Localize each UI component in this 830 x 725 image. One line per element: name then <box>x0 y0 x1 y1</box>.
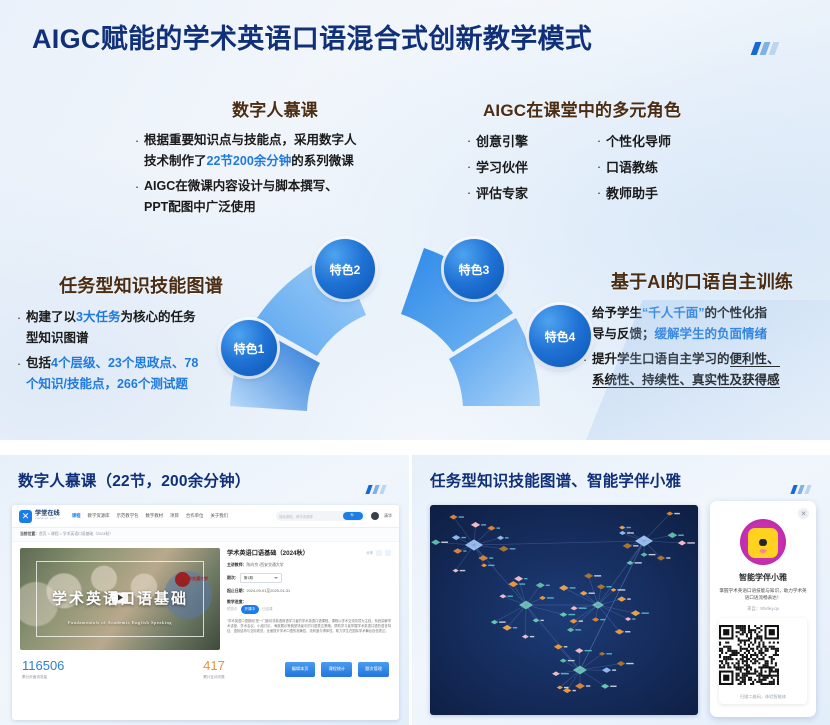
role-label: 个性化导师 <box>606 130 671 153</box>
text-run-highlight: 个知识/技能点 <box>26 377 104 391</box>
course-site-screenshot: ✕ 学堂在线 xuetangx.com 课程 教学资源库 示范教学包 数字教材 … <box>12 505 399 720</box>
role-item: · 口语教练 <box>592 156 712 179</box>
bullet-text: 根据重要知识点与技能点，采用数字人 技术制作了22节200余分钟的系列微课 <box>144 130 357 172</box>
share-group: 分享 <box>366 550 391 556</box>
roles-column-2: · 个性化导师 · 口语教练 · 教师助手 <box>592 130 712 208</box>
text-run-highlight: 负面情绪 <box>717 327 767 341</box>
arch-node-label: 特色3 <box>459 261 490 278</box>
knowledge-graph-svg <box>430 505 698 715</box>
qr-code-icon[interactable] <box>719 625 779 685</box>
section-heading: AIGC在课堂中的多元角色 <box>452 96 712 121</box>
course-hero-row: 西安交通大学 学术英语口语基础 Fundamentals of Academic… <box>12 542 399 650</box>
role-label: 教师助手 <box>606 182 658 205</box>
close-icon[interactable]: ✕ <box>798 508 809 519</box>
term-management-button[interactable]: 题次管理 <box>358 662 389 677</box>
progress-pills: 预告中 开课中 已结课 <box>227 605 391 614</box>
bullet-dot: · <box>462 156 476 177</box>
bullet-text: 构建了以3大任务为核心的任务 型知识图谱 <box>26 307 195 349</box>
text-run: 根据重要知识点与技能点，采用数字人 <box>144 133 357 147</box>
bullet-text: 包括4个层级、23个思政点、78 个知识/技能点，266个测试题 <box>26 353 198 395</box>
course-term-line: 期次： 第1期 <box>227 573 391 583</box>
role-label: 创意引擎 <box>476 130 528 153</box>
date-value: 2024-09-01至2025-01-31 <box>246 588 290 593</box>
role-label: 学习伙伴 <box>476 156 528 179</box>
bullet-dot: · <box>12 353 26 374</box>
site-logo-text: 学堂在线 xuetangx.com <box>35 511 60 522</box>
nav-item-demo-packages[interactable]: 示范教学包 <box>117 513 139 519</box>
decorative-stripes-icon <box>753 42 777 55</box>
term-select[interactable]: 第1期 <box>240 573 282 583</box>
stat-value: 417 <box>150 658 278 673</box>
share-icon-2[interactable] <box>385 550 391 556</box>
panel-title: 任务型知识技能图谱、智能学伴小雅 <box>430 469 681 491</box>
stat-interactions: 417 累计互动次数 <box>150 658 278 680</box>
text-run: 的系列微课 <box>291 154 354 168</box>
share-icon-1[interactable] <box>376 550 382 556</box>
share-label: 分享 <box>366 550 373 555</box>
role-item: · 评估专家 <box>462 182 582 205</box>
panel-mooc: 数字人慕课（22节，200余分钟） ✕ 学堂在线 xuetangx.com 课程… <box>0 455 409 725</box>
top-slide: AIGC赋能的学术英语口语混合式创新教学模式 数字人慕课 · 根据重要知识点与技… <box>0 0 830 440</box>
course-meta: 学术英语口语基础（2024秋） 分享 主讲教师：陈向京 /西安交通大学 期次： … <box>227 548 391 650</box>
text-run: 构建了以 <box>26 310 76 324</box>
stat-value: 116506 <box>22 658 150 673</box>
nav-item-partners[interactable]: 合作单位 <box>186 513 204 519</box>
stat-pageviews: 116506 累计页面浏览量 <box>22 658 150 680</box>
role-item: · 个性化导师 <box>592 130 712 153</box>
decorative-stripes-icon <box>792 485 810 494</box>
roles-column-1: · 创意引擎 · 学习伙伴 · 评估专家 <box>462 130 582 208</box>
arch-node-label: 特色4 <box>545 328 576 345</box>
site-domain: xuetangx.com <box>35 516 60 522</box>
course-action-buttons: 编辑本页 课程统计 题次管理 <box>285 662 389 677</box>
bullet-dot: · <box>462 130 476 151</box>
bullet-dot: · <box>592 182 606 203</box>
arch-node-3[interactable]: 特色3 <box>444 239 504 299</box>
nav-item-digital-textbook[interactable]: 数字教材 <box>145 513 163 519</box>
course-title: 学术英语口语基础（2024秋） 分享 <box>227 548 391 557</box>
course-description: “学术英语口语基础”是一门面向非英语母语学习者的学术英语口语课程。课程以学术交流… <box>227 619 391 635</box>
site-navbar: ✕ 学堂在线 xuetangx.com 课程 教学资源库 示范教学包 数字教材 … <box>12 505 399 528</box>
arch-diagram: 特色1 特色2 特色3 特色4 <box>196 213 640 435</box>
breadcrumb-path: 首页 > 课程 > 学术英语口语基础（2024秋） <box>39 532 113 536</box>
nav-item-about[interactable]: 关于我们 <box>210 513 228 519</box>
bullet-text: 提升学生口语自主学习的便利性、 系统性、持续性、真实性及获得感 <box>592 349 780 391</box>
role-label: 口语教练 <box>606 156 658 179</box>
text-run: 为核心的任务 <box>120 310 195 324</box>
search-input[interactable]: 搜索课程、教学资源等 🔍 <box>276 511 366 521</box>
bullet-dot: · <box>592 130 606 151</box>
qr-tip: 扫描二维码，体验智能体 <box>719 694 807 700</box>
date-label: 起止日期： <box>227 588 246 593</box>
bullet-item: · 根据重要知识点与技能点，采用数字人 技术制作了22节200余分钟的系列微课 <box>130 130 420 172</box>
progress-pill-ongoing[interactable]: 开课中 <box>241 605 260 614</box>
course-title-text: 学术英语口语基础（2024秋） <box>227 548 309 557</box>
text-run: 型知识图谱 <box>26 331 89 345</box>
teacher-label: 主讲教师： <box>227 562 246 567</box>
text-run-highlight: 缓解学生的 <box>655 327 718 341</box>
progress-label: 教学进度： <box>227 599 246 604</box>
agent-mouth <box>760 549 767 553</box>
stat-label: 累计页面浏览量 <box>22 675 150 680</box>
bullet-dot: · <box>12 307 26 328</box>
thumbnail-title-en: Fundamentals of Academic English Speakin… <box>20 620 220 625</box>
text-run: 包括 <box>26 356 51 370</box>
avatar[interactable] <box>371 512 379 520</box>
breadcrumb-label: 当前位置： <box>20 532 39 536</box>
course-teacher-line: 主讲教师：陈向京 /西安交通大学 <box>227 562 391 568</box>
roles-grid: · 创意引擎 · 学习伙伴 · 评估专家 · 个性化导师 <box>452 130 712 208</box>
text-run-highlight: “千人千面” <box>642 306 705 320</box>
agent-name: 智能学伴小雅 <box>710 572 816 583</box>
qr-container: 扫描二维码，体验智能体 <box>719 618 807 704</box>
play-icon[interactable] <box>112 592 128 603</box>
search-placeholder: 搜索课程、教学资源等 <box>279 514 313 519</box>
nav-item-courses[interactable]: 课程 <box>72 513 81 519</box>
xuetangx-logo-icon: ✕ <box>19 510 32 523</box>
nav-item-projects[interactable]: 项目 <box>170 513 179 519</box>
text-run-highlight: 4个层级、23个思政点、78 <box>51 356 198 370</box>
knowledge-graph-visualization[interactable] <box>430 505 698 715</box>
page-title: AIGC赋能的学术英语口语混合式创新教学模式 <box>32 22 592 56</box>
bullet-dot: · <box>592 156 606 177</box>
section-aigc-roles: AIGC在课堂中的多元角色 · 创意引擎 · 学习伙伴 · 评估专家 <box>452 96 712 208</box>
text-run-underline: 便利性、 <box>730 352 780 367</box>
account-label[interactable]: 清华 <box>384 513 392 519</box>
bullet-dot: · <box>130 130 144 151</box>
agent-eye-right <box>761 539 767 546</box>
progress-pill-finished[interactable]: 已结课 <box>262 606 273 612</box>
agent-face <box>748 528 778 558</box>
decorative-stripes-icon <box>367 485 385 494</box>
slide-root: AIGC赋能的学术英语口语混合式创新教学模式 数字人慕课 · 根据重要知识点与技… <box>0 0 830 725</box>
section-heading: 数字人慕课 <box>130 96 420 121</box>
nav-item-resources[interactable]: 教学资源库 <box>88 513 110 519</box>
course-stats-button[interactable]: 课程统计 <box>321 662 352 677</box>
breadcrumb: 当前位置：首页 > 课程 > 学术英语口语基础（2024秋） <box>12 528 399 542</box>
course-date-line: 起止日期：2024-09-01至2025-01-31 <box>227 588 391 594</box>
role-label: 评估专家 <box>476 182 528 205</box>
section-digital-human-mooc: 数字人慕课 · 根据重要知识点与技能点，采用数字人 技术制作了22节200余分钟… <box>130 96 420 222</box>
arch-node-1[interactable]: 特色1 <box>221 320 277 376</box>
course-stats-row: 116506 累计页面浏览量 417 累计互动次数 编辑本页 课程统计 题次管理 <box>12 650 399 680</box>
agent-avatar-icon <box>740 519 786 565</box>
course-progress-line: 教学进度： 预告中 开课中 已结课 <box>227 599 391 614</box>
arch-node-label: 特色1 <box>234 340 265 357</box>
role-item: · 学习伙伴 <box>462 156 582 179</box>
text-run: 的个性化指 <box>705 306 768 320</box>
university-name: 西安交通大学 <box>184 576 208 582</box>
agent-card: ✕ 智能学伴小雅 掌握学术英语口语技能与知识，助力学术英语口语流畅表达！ 来自：… <box>710 501 816 717</box>
text-run-highlight: ，266个测试题 <box>104 377 187 391</box>
text-run-underline: 系统性、持续性、真实性及获得感 <box>592 373 780 388</box>
text-run: 技术制作了 <box>144 154 207 168</box>
agent-author: 来自：Shirley.qx <box>710 606 816 612</box>
page-title-text: AIGC赋能的学术英语口语混合式创新教学模式 <box>32 22 592 56</box>
stat-label: 累计互动次数 <box>150 675 278 680</box>
bullet-dot: · <box>462 182 476 203</box>
agent-description: 掌握学术英语口语技能与知识，助力学术英语口语流畅表达！ <box>718 587 808 601</box>
arch-node-4[interactable]: 特色4 <box>529 305 591 367</box>
text-run-highlight: 3大任务 <box>76 310 120 324</box>
panel-knowledge-graph-agent: 任务型知识技能图谱、智能学伴小雅 ✕ 智能学伴小雅 <box>412 455 830 725</box>
progress-pill-upcoming[interactable]: 预告中 <box>227 606 238 612</box>
site-nav-links: 课程 教学资源库 示范教学包 数字教材 项目 合作单位 关于我们 <box>72 513 228 519</box>
navbar-right: 搜索课程、教学资源等 🔍 清华 <box>276 511 392 521</box>
search-icon[interactable]: 🔍 <box>343 512 363 520</box>
text-run-highlight: 22节200余分钟 <box>207 154 292 168</box>
arch-node-2[interactable]: 特色2 <box>315 239 375 299</box>
role-item: · 创意引擎 <box>462 130 582 153</box>
bullet-item: · AIGC在微课内容设计与脚本撰写、 PPT配图中广泛使用 <box>130 176 420 218</box>
course-video-thumbnail[interactable]: 西安交通大学 学术英语口语基础 Fundamentals of Academic… <box>20 548 220 650</box>
bullet-text: AIGC在微课内容设计与脚本撰写、 PPT配图中广泛使用 <box>144 176 338 218</box>
role-item: · 教师助手 <box>592 182 712 205</box>
text-run: PPT配图中广泛使用 <box>144 200 256 214</box>
panel-title: 数字人慕课（22节，200余分钟） <box>18 469 251 491</box>
text-run: AIGC在微课内容设计与脚本撰写、 <box>144 179 338 193</box>
edit-page-button[interactable]: 编辑本页 <box>285 662 316 677</box>
term-label: 期次： <box>227 575 239 580</box>
bullet-dot: · <box>130 176 144 197</box>
arch-node-label: 特色2 <box>330 261 361 278</box>
teacher-value: 陈向京 /西安交通大学 <box>246 562 283 567</box>
